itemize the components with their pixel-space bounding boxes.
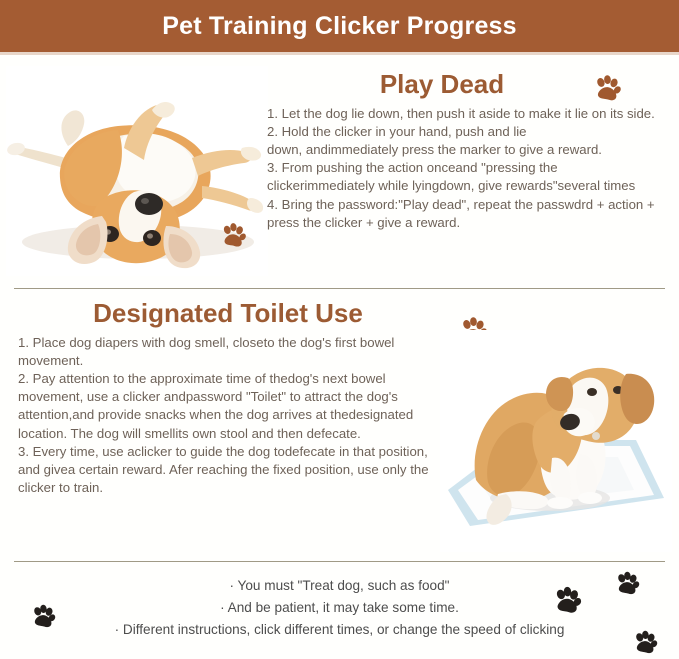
header-banner: Pet Training Clicker Progress [0, 0, 679, 52]
section-body-designated-toilet-use: 1. Place dog diapers with dog smell, clo… [8, 334, 448, 498]
section-designated-toilet-use: Designated Toilet Use 1. Place dog diape… [8, 295, 448, 498]
pet-training-infographic: Pet Training Clicker Progress [0, 0, 679, 659]
paw-print-icon-footer-bottom-right [632, 630, 658, 656]
section-divider-top [14, 288, 665, 289]
section-divider-bottom [14, 561, 665, 562]
banner-underline [0, 52, 679, 55]
photo-dog-on-training-pad [440, 330, 672, 552]
paw-print-icon-playdead-middle [219, 222, 247, 250]
footer-note-3: · Different instructions, click differen… [0, 619, 679, 641]
paw-print-icon-footer-left [30, 604, 56, 630]
paw-print-icon-footer-middle [552, 586, 582, 616]
section-heading-designated-toilet-use: Designated Toilet Use [8, 299, 448, 328]
page-title: Pet Training Clicker Progress [162, 12, 517, 41]
paw-print-icon-footer-top-right [614, 571, 640, 597]
section-body-play-dead: 1. Let the dog lie down, then push it as… [265, 105, 675, 233]
paw-print-icon-playdead-title [592, 74, 622, 104]
